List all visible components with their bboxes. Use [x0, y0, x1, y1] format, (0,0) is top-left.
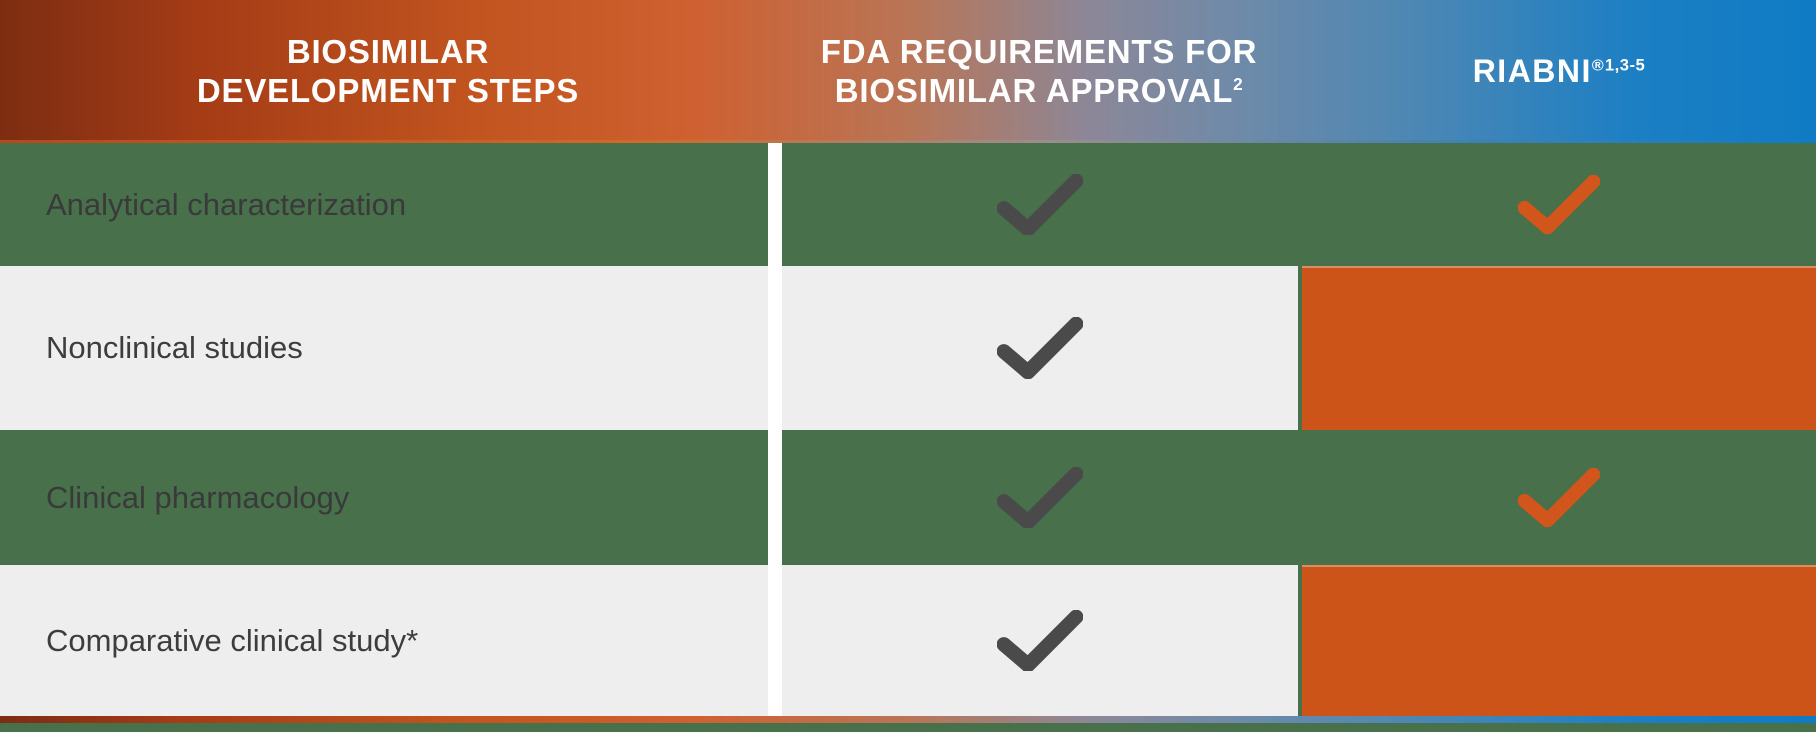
column-divider	[768, 143, 782, 716]
comparison-table: BIOSIMILAR DEVELOPMENT STEPS FDA REQUIRE…	[0, 0, 1816, 732]
checkmark-icon	[997, 467, 1083, 529]
checkmark-icon	[997, 610, 1083, 672]
fda-requirement-cell	[782, 430, 1298, 565]
row-label-cell: Nonclinical studies	[0, 266, 768, 430]
cell-hairline	[1302, 565, 1816, 567]
row-label-cell: Comparative clinical study*	[0, 565, 768, 716]
row-label: Comparative clinical study*	[0, 565, 768, 716]
row-label: Clinical pharmacology	[0, 430, 768, 565]
table-row: Comparative clinical study*	[0, 565, 1816, 716]
riabni-cell	[1302, 430, 1816, 565]
header-col-fda-requirements: FDA REQUIREMENTS FOR BIOSIMILAR APPROVAL…	[776, 0, 1302, 143]
header-line-1: BIOSIMILAR	[287, 33, 489, 70]
checkmark-icon	[997, 174, 1083, 236]
fda-requirement-cell	[782, 266, 1298, 430]
checkmark-icon	[1518, 468, 1600, 527]
fda-check-wrap	[782, 143, 1298, 266]
riabni-check-wrap	[1302, 565, 1816, 716]
riabni-cell	[1302, 565, 1816, 716]
table-row: Analytical characterization	[0, 143, 1816, 266]
header-superscript: 1,3-5	[1605, 55, 1645, 74]
brand-name: RIABNI	[1473, 53, 1592, 89]
riabni-cell	[1302, 143, 1816, 266]
fda-check-wrap	[782, 266, 1298, 430]
table-row: Nonclinical studies	[0, 266, 1816, 430]
riabni-check-wrap	[1302, 266, 1816, 430]
row-label: Nonclinical studies	[0, 266, 768, 430]
fda-check-wrap	[782, 430, 1298, 565]
header-line-2: DEVELOPMENT STEPS	[197, 72, 579, 109]
footer-gradient-bar	[0, 716, 1816, 723]
header-col-biosimilar-steps: BIOSIMILAR DEVELOPMENT STEPS	[0, 0, 776, 143]
row-label-cell: Analytical characterization	[0, 143, 768, 266]
checkmark-icon	[1518, 175, 1600, 234]
row-label-cell: Clinical pharmacology	[0, 430, 768, 565]
fda-requirement-cell	[782, 143, 1298, 266]
riabni-cell	[1302, 266, 1816, 430]
riabni-check-wrap	[1302, 430, 1816, 565]
registered-trademark-icon: ®	[1592, 57, 1605, 74]
footer-green-strip	[0, 723, 1816, 732]
checkmark-icon	[997, 317, 1083, 379]
riabni-check-wrap	[1302, 143, 1816, 266]
header-superscript: 2	[1233, 74, 1243, 94]
fda-check-wrap	[782, 565, 1298, 716]
table-header: BIOSIMILAR DEVELOPMENT STEPS FDA REQUIRE…	[0, 0, 1816, 143]
header-line-2: BIOSIMILAR APPROVAL	[835, 72, 1233, 109]
table-row: Clinical pharmacology	[0, 430, 1816, 565]
fda-requirement-cell	[782, 565, 1298, 716]
row-label: Analytical characterization	[0, 143, 768, 266]
header-line-1: FDA REQUIREMENTS FOR	[821, 33, 1257, 70]
cell-hairline	[1302, 266, 1816, 268]
header-col-riabni: RIABNI®1,3-5	[1302, 0, 1816, 143]
